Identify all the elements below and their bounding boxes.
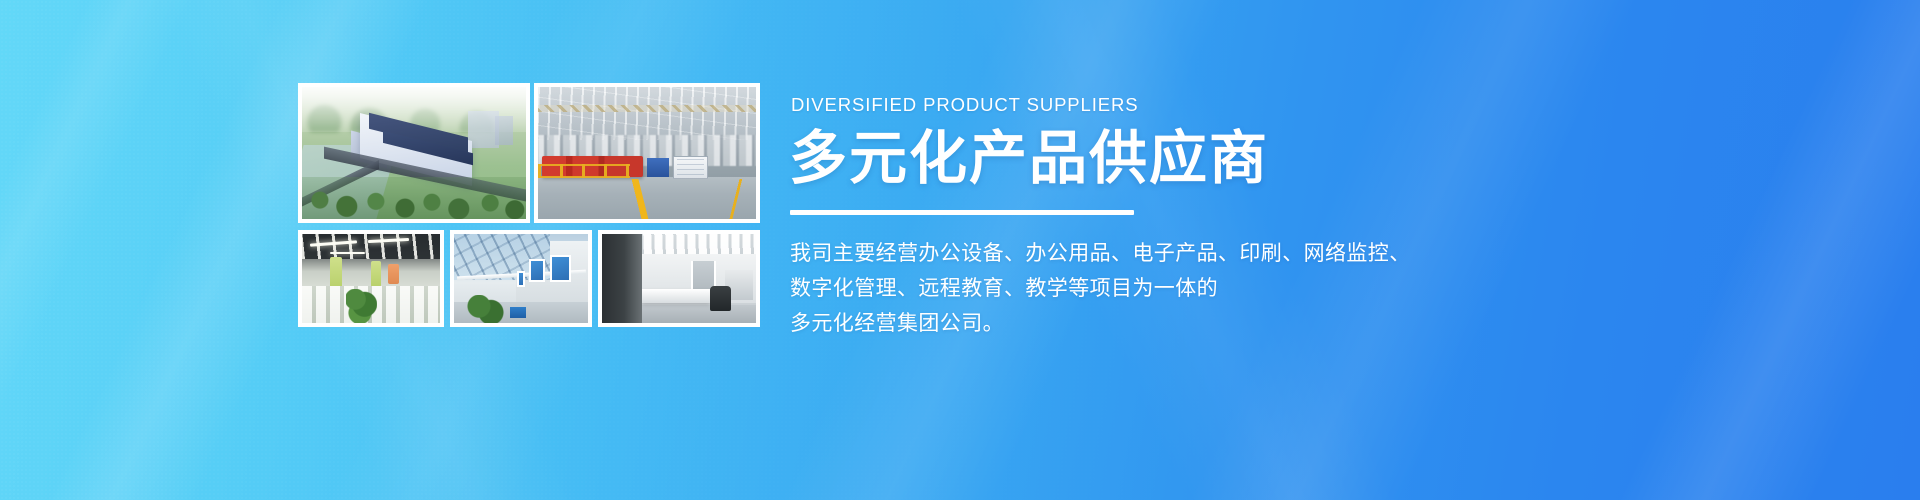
aerial-factory-campus-photo[interactable] [298,83,530,223]
photo-collage [298,83,760,327]
open-plan-office-photo[interactable] [298,230,444,327]
assembly-line-workshop-photo[interactable] [534,83,760,223]
banner-headline: 多元化产品供应商 [789,129,1429,190]
banner-eyebrow-text: DIVERSIFIED PRODUCT SUPPLIERS [791,96,1429,115]
description-line-3: 多元化经营集团公司。 [790,306,1429,341]
description-line-1: 我司主要经营办公设备、办公用品、电子产品、印刷、网络监控、 [790,236,1429,271]
description-line-2: 数字化管理、远程教育、教学等项目为一体的 [790,271,1429,306]
banner-text-block: DIVERSIFIED PRODUCT SUPPLIERS 多元化产品供应商 我… [789,96,1429,341]
glass-roof-workshop-photo[interactable] [450,230,592,327]
headline-divider-rule [790,210,1134,215]
banner-description: 我司主要经营办公设备、办公用品、电子产品、印刷、网络监控、 数字化管理、远程教育… [790,236,1429,341]
company-intro-banner: DIVERSIFIED PRODUCT SUPPLIERS 多元化产品供应商 我… [0,0,1920,500]
office-interior-corridor-photo[interactable] [598,230,760,327]
